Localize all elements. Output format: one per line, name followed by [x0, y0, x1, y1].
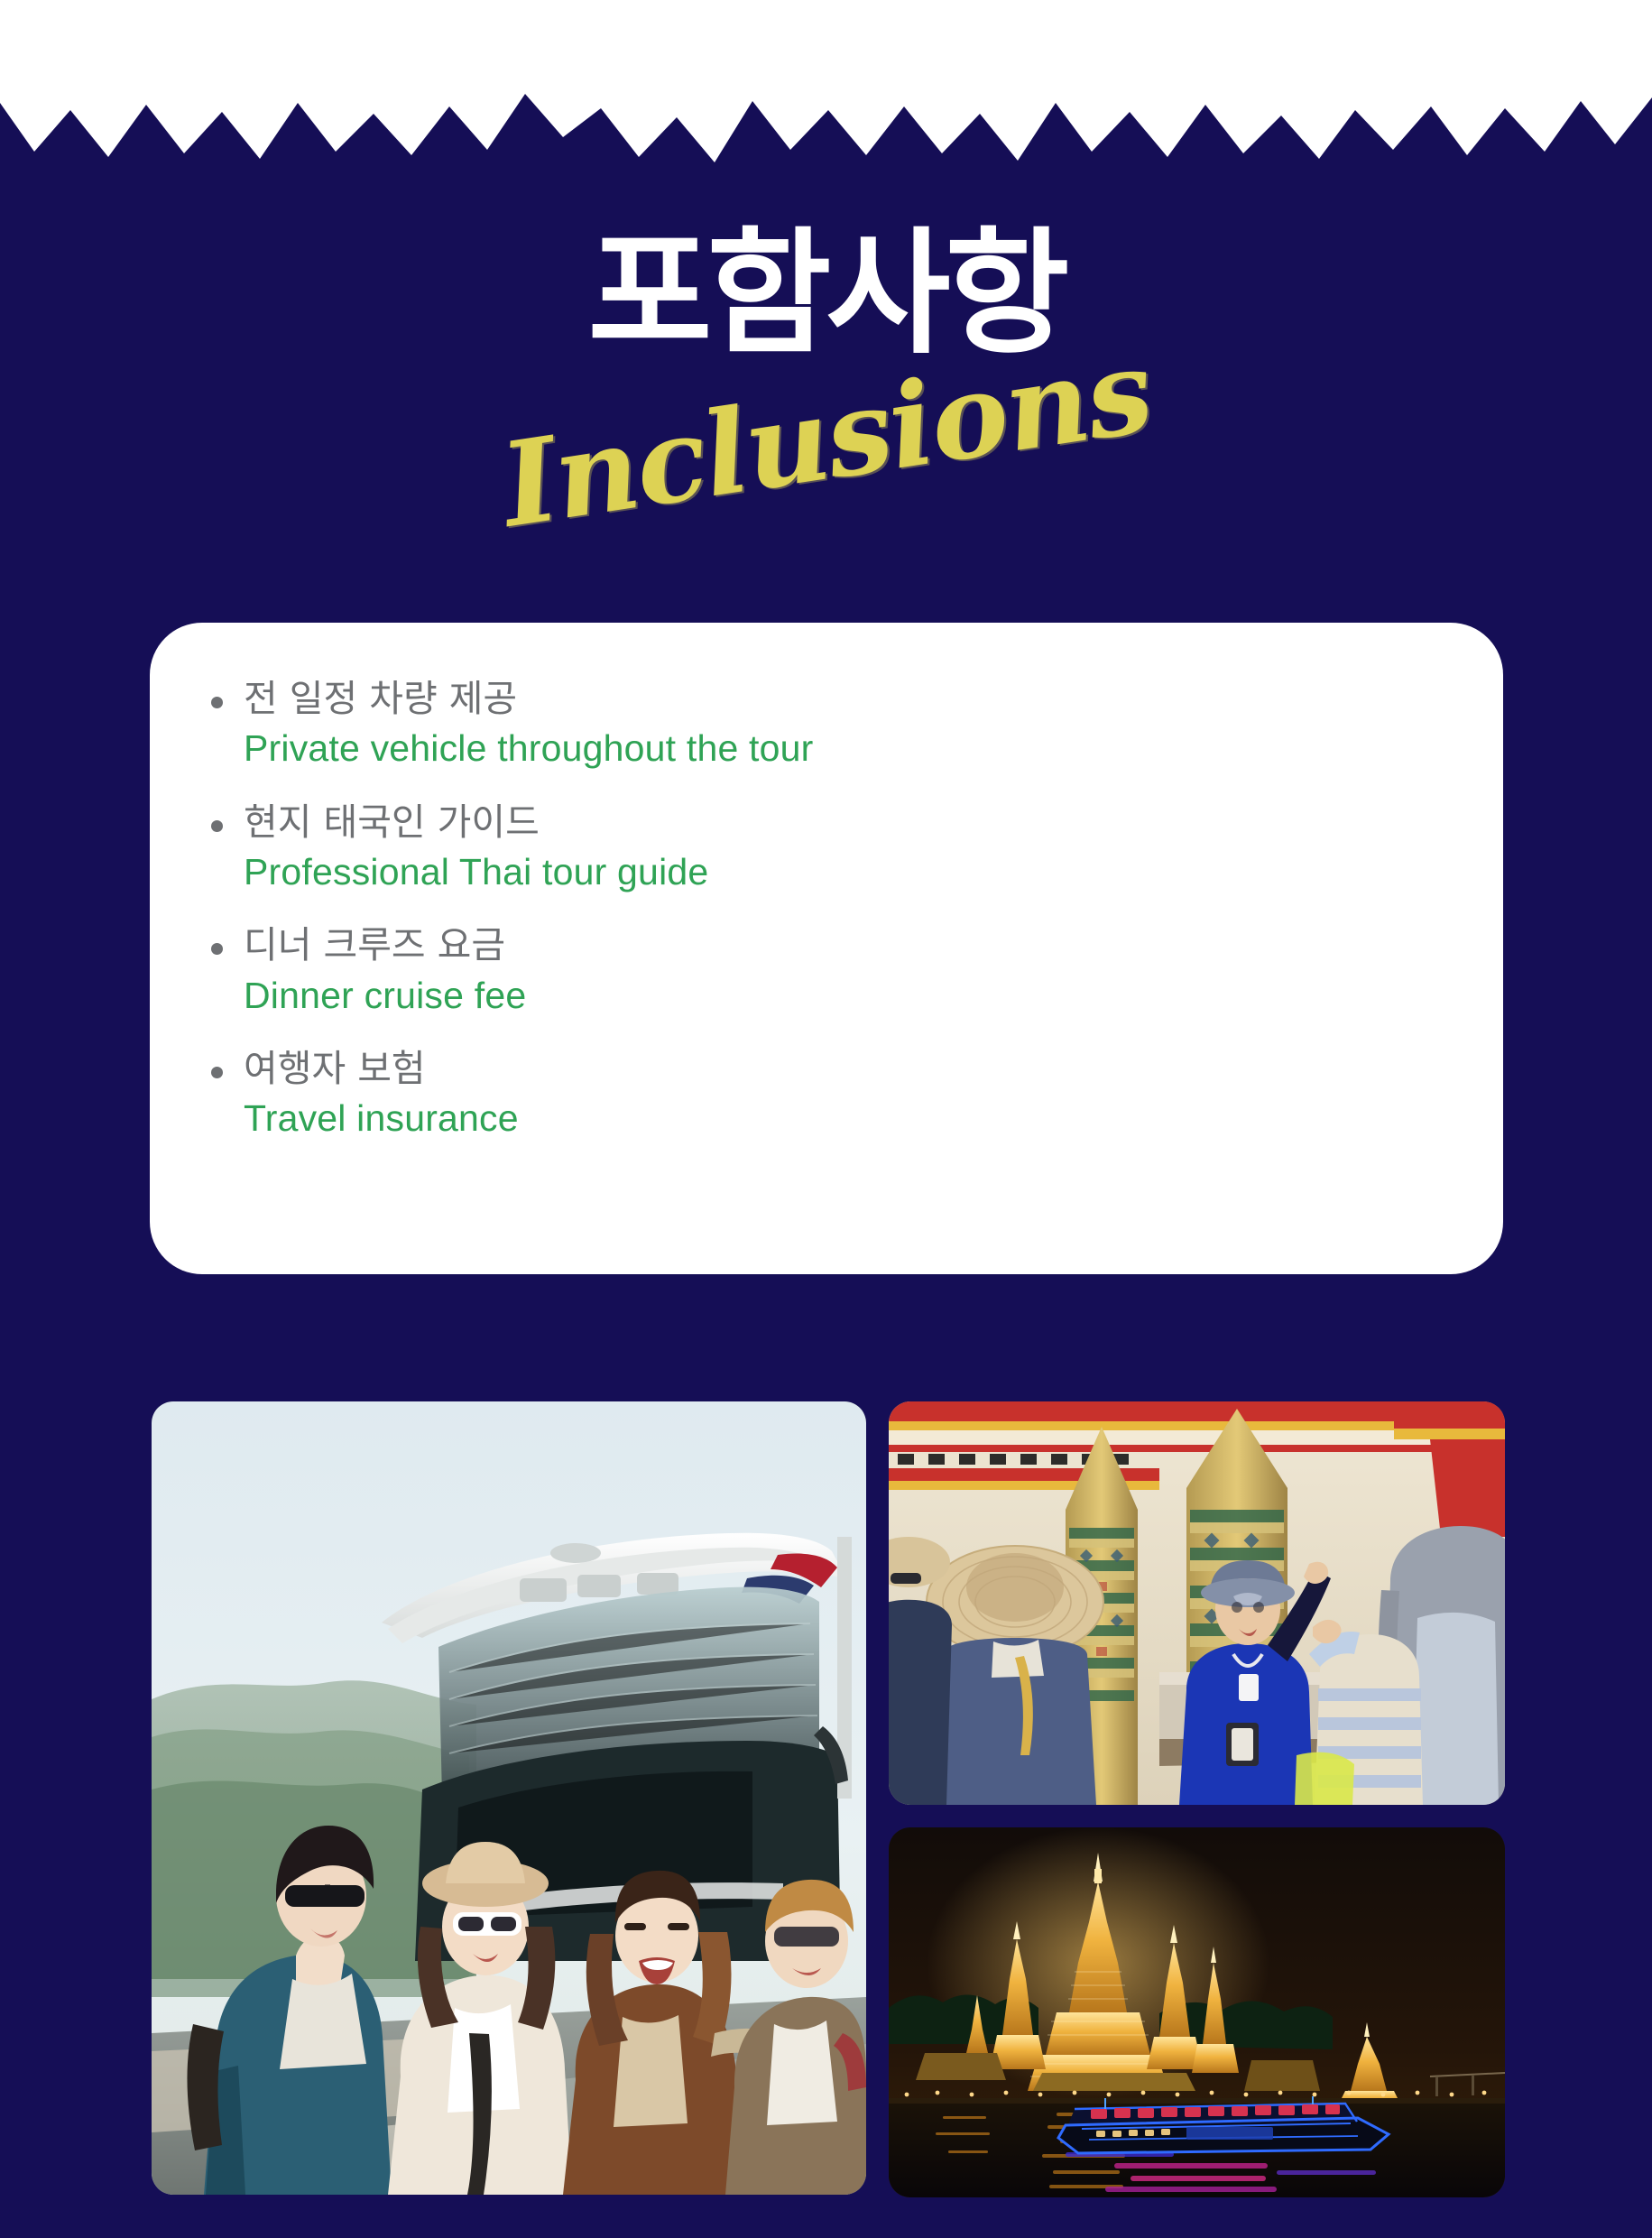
photo-night-cruise — [889, 1827, 1505, 2197]
brochure-page: 포함사항 Inclusions 전 일정 차량 제공 Private vehic… — [0, 0, 1652, 2238]
photo-roadtrip — [152, 1401, 866, 2195]
photo-collage — [0, 0, 1652, 2238]
photo-tour-guide — [889, 1401, 1505, 1805]
